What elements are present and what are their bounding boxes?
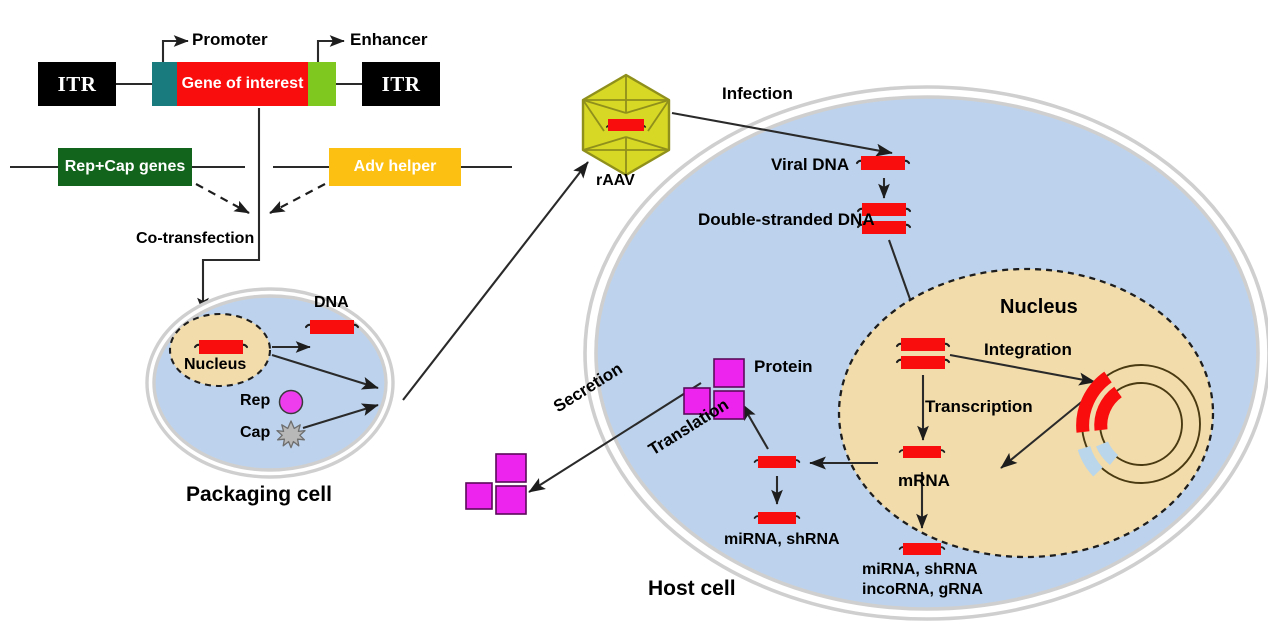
itr-right-box: ITR <box>362 62 440 106</box>
protein-cluster-secreted <box>466 454 526 514</box>
packaging-dna-label: DNA <box>314 294 349 312</box>
packaging-to-virus-arrow <box>403 162 588 400</box>
cap-label: Cap <box>240 424 270 442</box>
enhancer-label: Enhancer <box>350 30 427 49</box>
transcription-label: Transcription <box>925 397 1033 416</box>
itr-left-box: ITR <box>38 62 116 106</box>
packaging-free-dna <box>306 320 358 334</box>
dashed-transfection-arrows <box>196 184 325 213</box>
rep-protein-shape <box>280 391 303 414</box>
nuclear-rna-label-line1: miRNA, shRNA <box>862 561 978 579</box>
adv-helper-box: Adv helper <box>329 148 461 186</box>
cytoplasmic-rna-label: miRNA, shRNA <box>724 531 840 549</box>
viral-dna-motif <box>857 156 909 170</box>
packaging-nucleus-dna <box>195 340 247 354</box>
integration-label: Integration <box>984 340 1072 359</box>
raav-label: rAAV <box>596 172 635 190</box>
infection-label: Infection <box>722 84 793 103</box>
rep-label: Rep <box>240 392 270 410</box>
cytoplasmic-mirna-motif <box>755 512 800 524</box>
gene-of-interest-segment: Gene of interest <box>177 62 308 106</box>
host-nucleus-label: Nucleus <box>1000 296 1078 318</box>
promoter-pointer <box>163 41 188 62</box>
nuclear-exported-rna-motif <box>900 543 945 555</box>
packaging-nucleus-label: Nucleus <box>184 356 246 374</box>
promoter-label: Promoter <box>192 30 268 49</box>
cytoplasmic-mrna-motif <box>755 456 800 468</box>
nuclear-rna-label-line2: incoRNA, gRNA <box>862 581 983 599</box>
packaging-cell-membrane <box>147 289 393 477</box>
protein-label: Protein <box>754 357 813 376</box>
promoter-segment <box>152 62 177 106</box>
mrna-motif <box>900 446 945 458</box>
rep-cap-genes-box: Rep+Cap genes <box>58 148 192 186</box>
co-transfection-label: Co-transfection <box>136 230 254 248</box>
enhancer-segment <box>308 62 336 106</box>
enhancer-pointer <box>318 41 344 62</box>
mrna-label: mRNA <box>898 471 950 490</box>
host-cell-title: Host cell <box>648 577 736 601</box>
packaging-cell-title: Packaging cell <box>186 483 332 507</box>
viral-dna-label: Viral DNA <box>771 155 849 174</box>
cotransfection-trunk <box>203 108 259 312</box>
raav-capsid-shape <box>583 75 669 175</box>
double-stranded-dna-label: Double-stranded DNA <box>698 210 875 229</box>
diagram-canvas: ITR Gene of interest ITR Promoter Enhanc… <box>0 0 1268 636</box>
